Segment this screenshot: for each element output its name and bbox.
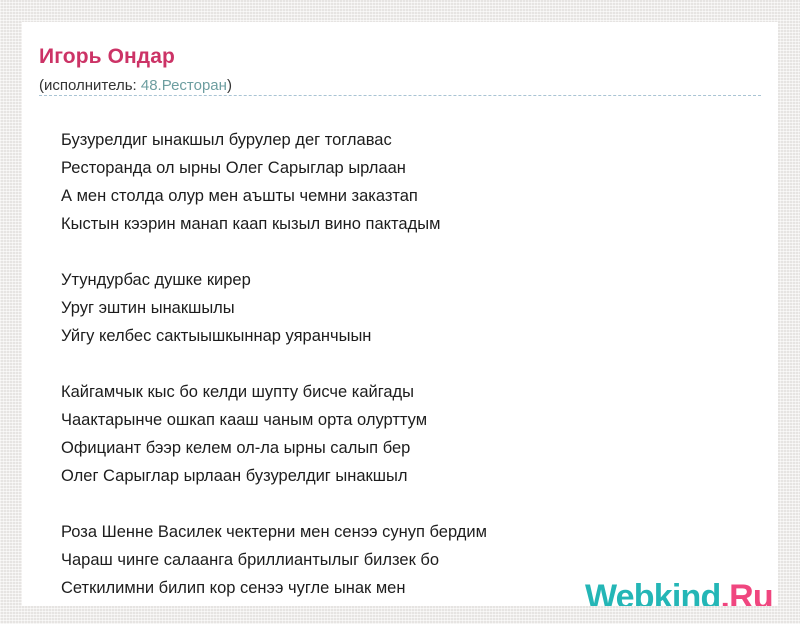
lyrics-stanza: Кайгамчык кыс бо келди шупту бисче кайга… [61,378,758,490]
lyric-line: Официант бээр келем ол-ла ырны салып бер [61,434,758,462]
lyric-line: Сеткилимни билип кор сенээ чугле ынак ме… [61,574,758,602]
lyric-line: Уйгу келбес сактыышкыннар уяранчыын [61,322,758,350]
performer-link[interactable]: 48.Ресторан [141,77,227,94]
lyrics-stanza: Утундурбас душке кирер Уруг эштин ынакшы… [61,266,758,350]
performer-prefix-label: (исполнитель: [39,77,141,94]
lyric-line: Чараш чинге салаанга бриллиантылыг билзе… [61,546,758,574]
page-title: Игорь Ондар [39,44,778,70]
page-root: Игорь Ондар (исполнитель: 48.Ресторан) Б… [0,0,800,624]
lyrics-stanza: Роза Шенне Василек чектерни мен сенээ су… [61,518,758,606]
lyric-line: Ресторанда ол ырны Олег Сарыглар ырлаан [61,154,758,182]
lyric-line: Утундурбас душке кирер [61,266,758,294]
song-header: Игорь Ондар (исполнитель: 48.Ресторан) [22,22,778,96]
lyric-line: Кайгамчык кыс бо келди шупту бисче кайга… [61,378,758,406]
lyrics-stanza: Бузурелдиг ынакшыл бурулер дег тоглавас … [61,126,758,238]
performer-line: (исполнитель: 48.Ресторан) [39,76,778,96]
lyric-line: Роза Шенне Василек чектерни мен сенээ су… [61,518,758,546]
lyric-line: Кыстын кээрин манап каап кызыл вино пакт… [61,210,758,238]
lyric-line: А мен столда олур мен аъшты чемни заказт… [61,182,758,210]
lyric-line: Кайгамчыктыг ынаам кыс кады чурттаар эжи… [61,602,758,606]
lyric-line: Чаактарынче ошкап кааш чаным орта олуртт… [61,406,758,434]
header-divider [39,95,761,96]
lyric-line: Уруг эштин ынакшылы [61,294,758,322]
performer-suffix-label: ) [227,77,232,94]
lyric-line: Олег Сарыглар ырлаан бузурелдиг ынакшыл [61,462,758,490]
lyric-line: Бузурелдиг ынакшыл бурулер дег тоглавас [61,126,758,154]
lyrics-body: Бузурелдиг ынакшыл бурулер дег тоглавас … [61,126,758,606]
lyrics-card: Игорь Ондар (исполнитель: 48.Ресторан) Б… [22,22,778,606]
